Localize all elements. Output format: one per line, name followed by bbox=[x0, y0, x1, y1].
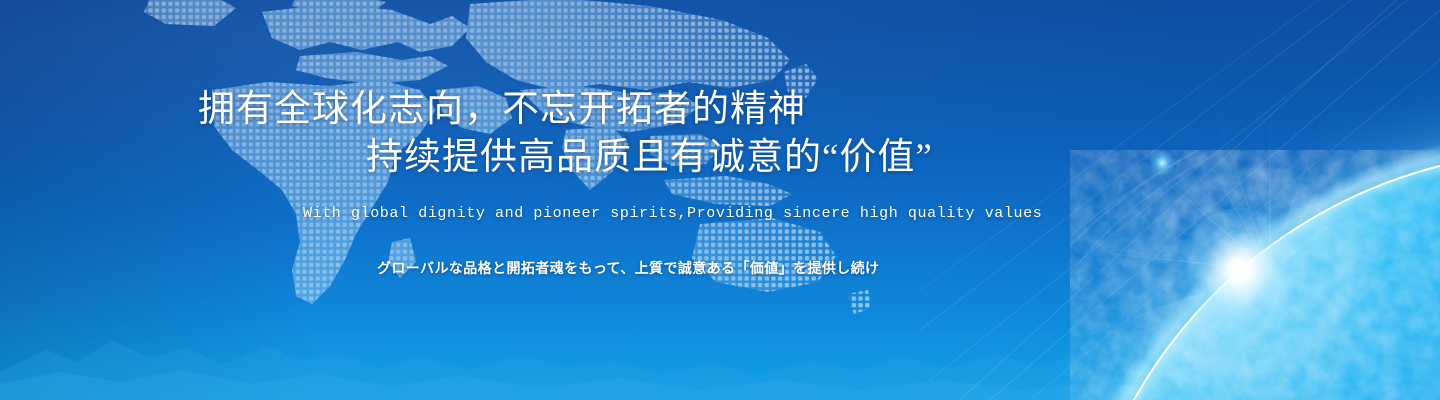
sun-flare-halo bbox=[1110, 140, 1380, 400]
sky-sheen-overlay bbox=[0, 0, 1440, 400]
planet-globe-icon bbox=[930, 0, 1440, 400]
subtitle-english: With global dignity and pioneer spirits,… bbox=[303, 205, 1042, 222]
mountain-silhouette-icon bbox=[0, 310, 1440, 400]
hero-banner: 拥有全球化志向，不忘开拓者的精神 持续提供高品质且有诚意的“价值” With g… bbox=[0, 0, 1440, 400]
headline: 拥有全球化志向，不忘开拓者的精神 持续提供高品质且有诚意的“价值” bbox=[0, 86, 1100, 182]
planet-haze bbox=[1050, 130, 1440, 400]
headline-line-2: 持续提供高品质且有诚意的“价值” bbox=[0, 134, 1100, 182]
planet-body bbox=[1070, 150, 1440, 400]
planet-rim-highlight bbox=[1070, 150, 1440, 400]
headline-line-1: 拥有全球化志向，不忘开拓者的精神 bbox=[0, 86, 1100, 134]
star-glow-icon bbox=[1149, 150, 1175, 176]
subtitle-japanese: グローバルな品格と開拓者魂をもって、上質で誠意ある「価値」を提供し続け bbox=[377, 258, 879, 278]
planet-texture bbox=[1070, 150, 1440, 400]
diagonal-light-streaks-icon bbox=[920, 0, 1440, 400]
sun-flare-icon bbox=[1178, 208, 1302, 332]
sun-flare-rays-icon bbox=[1040, 95, 1440, 400]
